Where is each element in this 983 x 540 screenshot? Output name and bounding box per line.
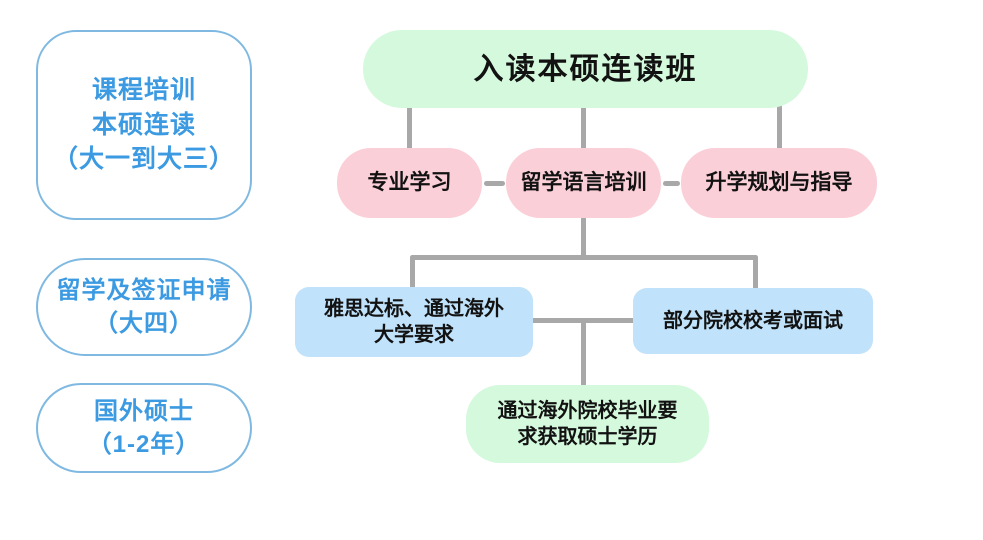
stage-2-line-2: （大四） [94,307,194,340]
stage-box-overseas-master[interactable]: 国外硕士 （1-2年） [36,383,252,473]
node-ielts-line-2: 大学要求 [374,322,454,348]
node-language-label: 留学语言培训 [521,169,647,196]
node-planning-label: 升学规划与指导 [706,169,853,196]
stage-1-line-1: 课程培训 [92,73,196,108]
connector-down-to-master [581,318,586,388]
stage-3-line-2: （1-2年） [88,428,201,461]
connector-bus-to-exam [753,255,758,291]
connector-bus-to-ielts [410,255,415,291]
connector-root-to-planning [777,104,782,152]
stage-3-line-1: 国外硕士 [94,395,194,428]
stage-1-line-2: 本硕连读 [92,108,196,143]
stage-box-course-training[interactable]: 课程培训 本硕连读 （大一到大三） [36,30,252,220]
connector-language-to-planning [663,181,680,186]
node-major-label: 专业学习 [368,169,452,196]
node-master-line-2: 求获取硕士学历 [518,424,658,450]
node-advancement-planning[interactable]: 升学规划与指导 [681,148,877,218]
node-exam-label: 部分院校校考或面试 [663,308,843,334]
flowchart-canvas: 课程培训 本硕连读 （大一到大三） 留学及签证申请 （大四） 国外硕士 （1-2… [0,0,983,540]
node-master-line-1: 通过海外院校毕业要 [498,398,678,424]
stage-2-line-1: 留学及签证申请 [57,274,232,307]
stage-1-line-3: （大一到大三） [53,142,235,177]
node-language-training[interactable]: 留学语言培训 [506,148,661,218]
connector-horizontal-bus [410,255,758,260]
node-root-label: 入读本硕连读班 [474,50,698,89]
node-ielts-line-1: 雅思达标、通过海外 [324,296,504,322]
connector-root-to-language [581,104,586,152]
connector-root-to-major [407,104,412,152]
connector-major-to-language [484,181,505,186]
node-master-degree[interactable]: 通过海外院校毕业要 求获取硕士学历 [466,385,709,463]
stage-box-study-abroad-visa[interactable]: 留学及签证申请 （大四） [36,258,252,356]
connector-language-down [581,216,586,258]
node-major-study[interactable]: 专业学习 [337,148,482,218]
node-school-exam-interview[interactable]: 部分院校校考或面试 [633,288,873,354]
node-root-program[interactable]: 入读本硕连读班 [363,30,808,108]
node-ielts-requirement[interactable]: 雅思达标、通过海外 大学要求 [295,287,533,357]
